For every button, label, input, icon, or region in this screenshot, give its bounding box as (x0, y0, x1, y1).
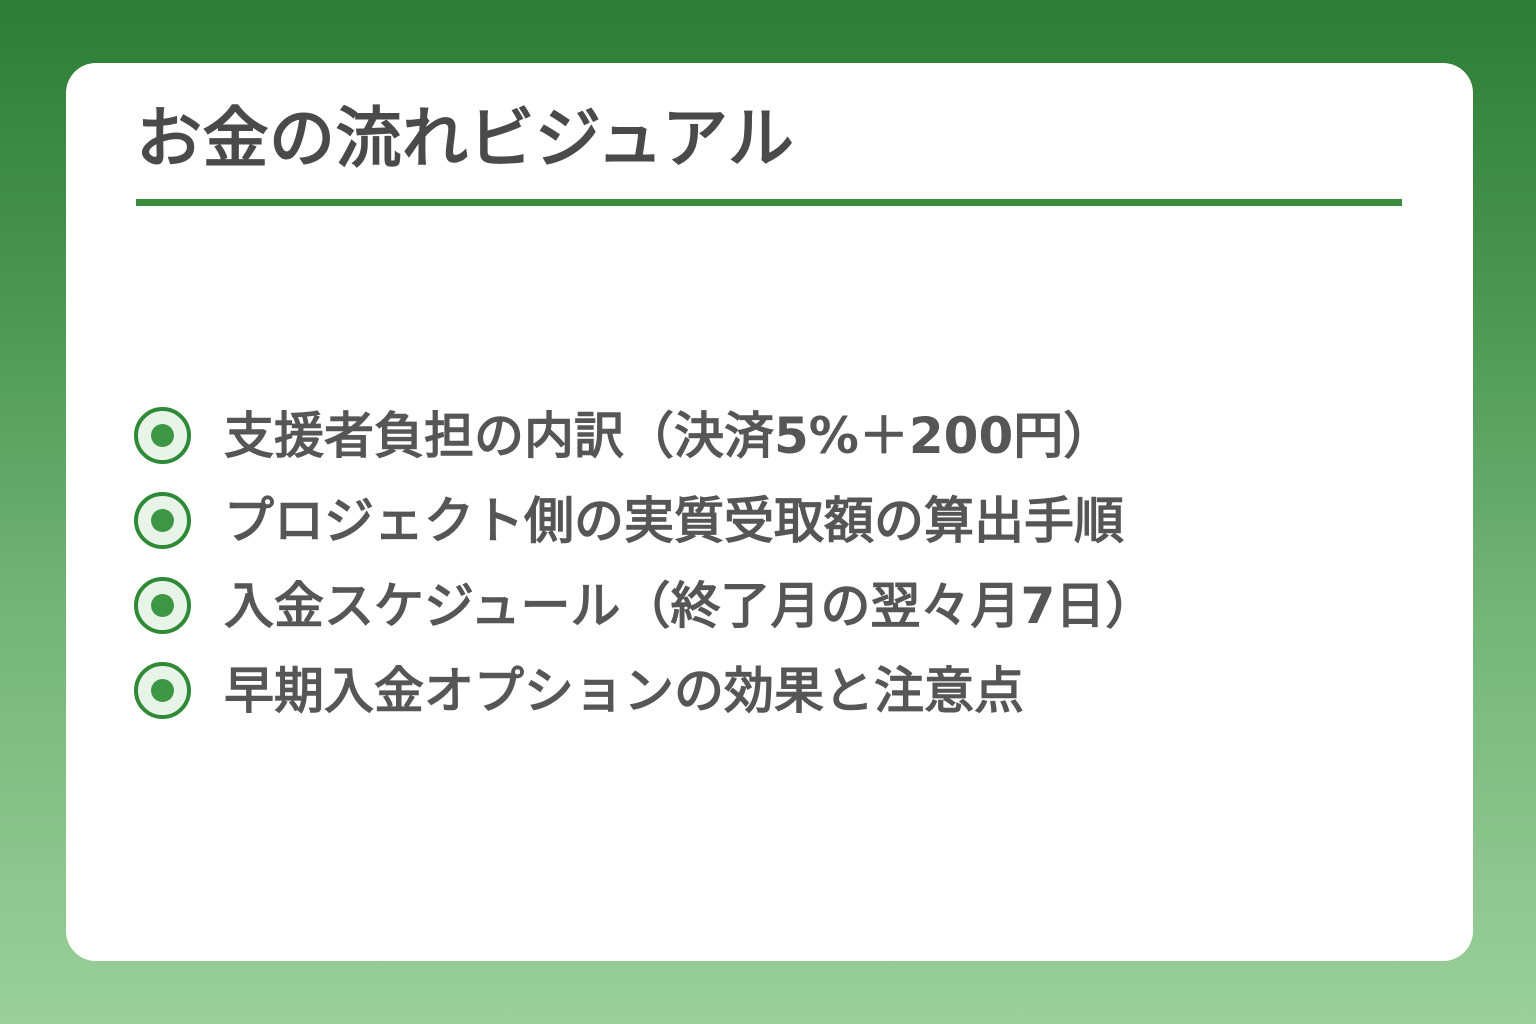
list-item[interactable]: 支援者負担の内訳（決済5%＋200円） (134, 393, 1424, 478)
filled-circle-bullet-icon (134, 662, 191, 719)
filled-circle-bullet-icon (134, 407, 191, 464)
bullet-list: 支援者負担の内訳（決済5%＋200円） プロジェクト側の実質受取額の算出手順 入… (134, 393, 1424, 733)
filled-circle-bullet-icon (134, 577, 191, 634)
list-item[interactable]: プロジェクト側の実質受取額の算出手順 (134, 478, 1424, 563)
bullet-dot-icon (151, 509, 174, 532)
title-block: お金の流れビジュアル (136, 101, 1402, 206)
title-underline-rule (136, 199, 1402, 206)
list-item-label: 支援者負担の内訳（決済5%＋200円） (224, 411, 1113, 461)
list-item[interactable]: 入金スケジュール（終了月の翌々月7日） (134, 563, 1424, 648)
bullet-dot-icon (151, 679, 174, 702)
content-card: お金の流れビジュアル 支援者負担の内訳（決済5%＋200円） プロジェクト側の実… (66, 63, 1473, 961)
page-title: お金の流れビジュアル (136, 101, 1402, 177)
list-item-label: 入金スケジュール（終了月の翌々月7日） (224, 581, 1155, 631)
bullet-dot-icon (151, 594, 174, 617)
bullet-dot-icon (151, 424, 174, 447)
list-item[interactable]: 早期入金オプションの効果と注意点 (134, 648, 1424, 733)
list-item-label: プロジェクト側の実質受取額の算出手順 (224, 496, 1124, 546)
slide-canvas: お金の流れビジュアル 支援者負担の内訳（決済5%＋200円） プロジェクト側の実… (0, 0, 1536, 1024)
filled-circle-bullet-icon (134, 492, 191, 549)
list-item-label: 早期入金オプションの効果と注意点 (224, 666, 1024, 716)
